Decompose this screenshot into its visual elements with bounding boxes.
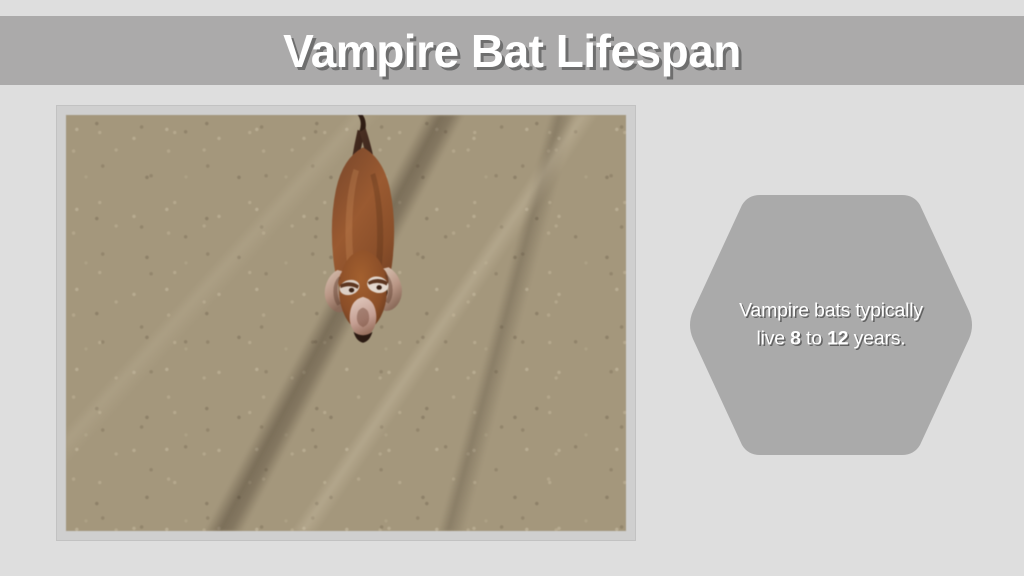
slide: Vampire Bat Lifespan — [0, 0, 1024, 576]
title-band: Vampire Bat Lifespan — [0, 16, 1024, 85]
bat-pupil-right — [376, 285, 381, 290]
bat-photograph — [66, 115, 626, 531]
photo-frame — [57, 106, 635, 540]
fact-callout: Vampire bats typically live 8 to 12 year… — [686, 189, 976, 461]
fact-lifespan-max: 12 — [827, 327, 848, 349]
bat-pupil-left — [349, 288, 354, 293]
fact-line-1: Vampire bats — [739, 299, 850, 321]
vampire-bat-illustration — [293, 115, 433, 394]
fact-callout-text: Vampire bats typically live 8 to 12 year… — [736, 297, 926, 352]
fact-line-2-mid: to — [801, 327, 827, 349]
page-title: Vampire Bat Lifespan — [283, 24, 741, 78]
fact-line-3: years. — [854, 327, 906, 349]
fact-lifespan-min: 8 — [790, 327, 801, 349]
